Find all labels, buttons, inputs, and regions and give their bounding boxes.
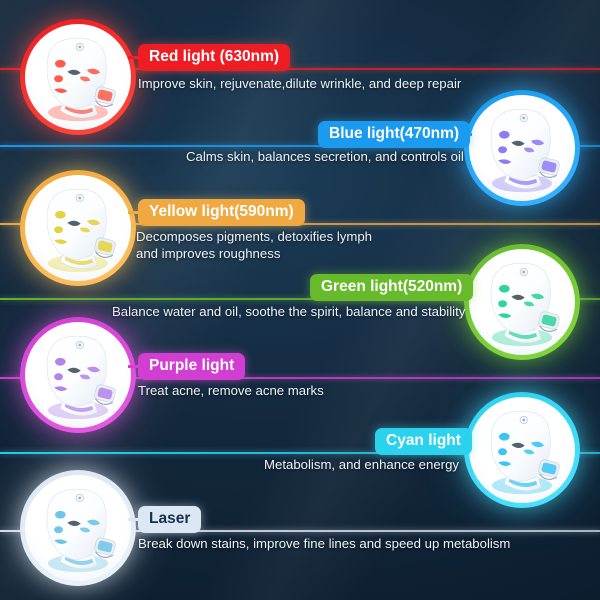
description-yellow: Decomposes pigments, detoxifies lymph an… (136, 228, 372, 262)
badge-green[interactable]: Green light(520nm) (310, 274, 473, 301)
badge-blue[interactable]: Blue light(470nm) (318, 121, 470, 148)
mask-photo-inner-cyan (469, 397, 575, 503)
description-cyan: Metabolism, and enhance energy (264, 456, 459, 473)
description-green: Balance water and oil, soothe the spirit… (112, 303, 465, 320)
face-mask-icon (469, 95, 575, 201)
description-red: Improve skin, rejuvenate,dilute wrinkle,… (138, 75, 461, 92)
mask-photo-inner-red (25, 24, 131, 130)
mask-photo-yellow (20, 170, 136, 286)
face-mask-icon (469, 249, 575, 355)
mask-photo-inner-blue (469, 95, 575, 201)
mask-photo-purple (20, 317, 136, 433)
description-purple: Treat acne, remove acne marks (138, 382, 324, 399)
mask-photo-inner-purple (25, 322, 131, 428)
badge-red[interactable]: Red light (630nm) (138, 44, 290, 71)
badge-yellow[interactable]: Yellow light(590nm) (138, 199, 305, 226)
face-mask-icon (25, 175, 131, 281)
face-mask-icon (25, 322, 131, 428)
badge-cyan[interactable]: Cyan light (375, 428, 472, 455)
face-mask-icon (25, 475, 131, 581)
badge-laser[interactable]: Laser (138, 506, 201, 533)
mask-photo-cyan (464, 392, 580, 508)
description-blue: Calms skin, balances secretion, and cont… (186, 148, 464, 165)
mask-photo-inner-yellow (25, 175, 131, 281)
mask-photo-red (20, 19, 136, 135)
mask-photo-laser (20, 470, 136, 586)
mask-photo-blue (464, 90, 580, 206)
description-laser: Break down stains, improve fine lines an… (138, 535, 510, 552)
face-mask-icon (25, 24, 131, 130)
mask-photo-green (464, 244, 580, 360)
mask-photo-inner-green (469, 249, 575, 355)
mask-photo-inner-laser (25, 475, 131, 581)
infographic-canvas: Red light (630nm)Improve skin, rejuvenat… (0, 0, 600, 600)
badge-purple[interactable]: Purple light (138, 353, 245, 380)
face-mask-icon (469, 397, 575, 503)
